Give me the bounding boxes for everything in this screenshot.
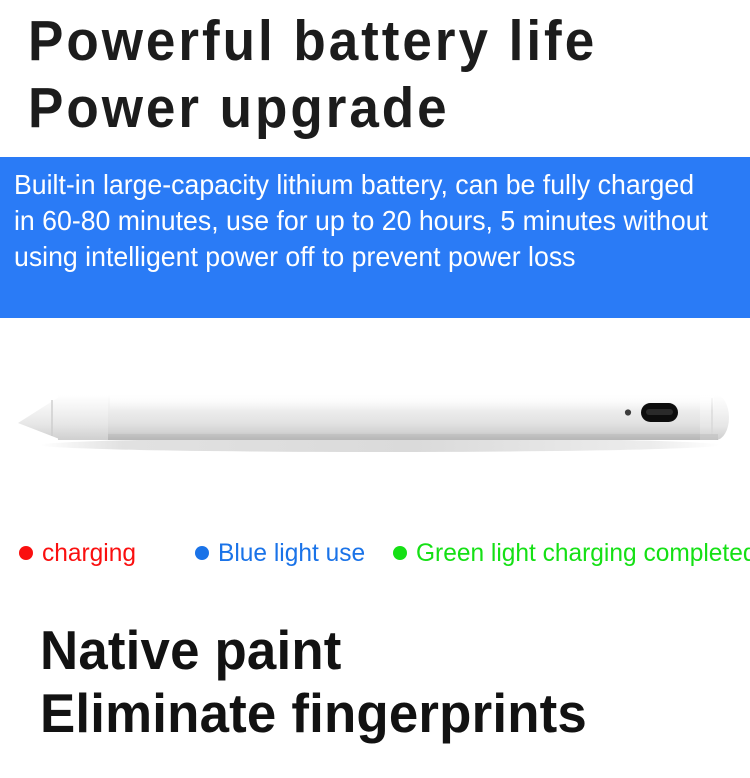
bottom-headline-block: Native paint Eliminate fingerprints (0, 600, 750, 778)
pen-shoulder (58, 395, 112, 440)
legend-label-charging: charging (42, 541, 136, 566)
legend-item-green-light: Green light charging completed (393, 523, 750, 583)
headline-block: Powerful battery life Power upgrade (0, 0, 750, 157)
legend-item-charging: charging (19, 523, 138, 583)
green-dot-icon (393, 546, 407, 560)
bottom-headline-line-2: Eliminate fingerprints (40, 686, 587, 741)
pen-shadow (40, 438, 720, 452)
description-text: Built-in large-capacity lithium battery,… (14, 167, 714, 275)
pen-tip (18, 395, 62, 440)
legend-label-blue-light: Blue light use (218, 541, 365, 566)
bottom-headline-line-1: Native paint (40, 623, 342, 678)
legend-item-blue-light: Blue light use (195, 523, 368, 583)
description-panel: Built-in large-capacity lithium battery,… (0, 157, 750, 318)
pen-lower-shading (108, 434, 718, 440)
blue-dot-icon (195, 546, 209, 560)
red-dot-icon (19, 546, 33, 560)
pen-highlight (110, 396, 714, 410)
stylus-pen-svg (0, 318, 750, 523)
usb-c-port-inner (646, 409, 673, 415)
led-indicator-icon (625, 409, 631, 415)
led-status-legend: charging Blue light use Green light char… (0, 523, 750, 583)
stylus-pen-illustration (0, 318, 750, 523)
headline-line-1: Powerful battery life (28, 13, 597, 70)
headline-line-2: Power upgrade (28, 80, 450, 137)
product-image-area (0, 318, 750, 523)
legend-label-green-light: Green light charging completed (416, 541, 750, 566)
